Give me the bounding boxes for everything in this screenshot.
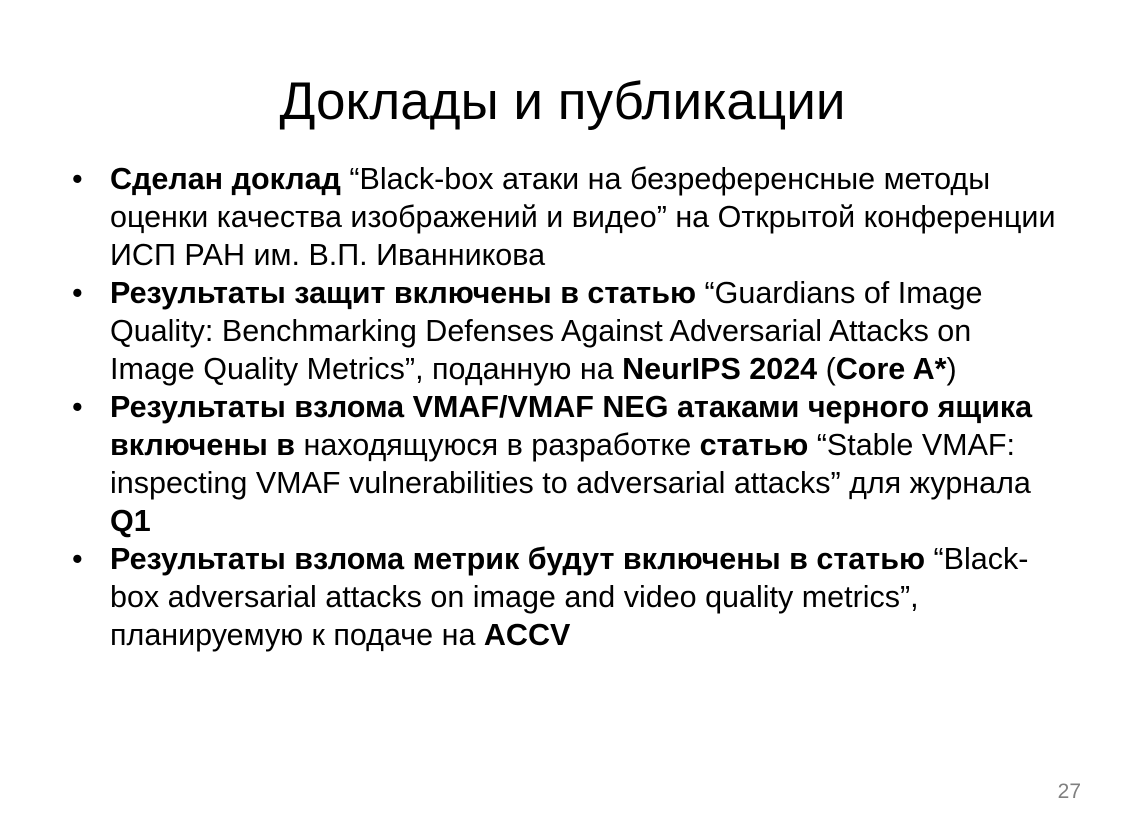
bold-run: ACCV: [484, 618, 570, 652]
regular-run: (: [817, 352, 836, 386]
bold-run: Результаты защит включены в статью: [110, 276, 696, 310]
bullet-point-icon: •: [72, 274, 83, 312]
bold-run: статью: [700, 428, 809, 462]
regular-run: находящуюся в разработке: [295, 428, 700, 462]
list-item: • Результаты взлома метрик будут включен…: [64, 540, 1064, 654]
bold-run: Результаты взлома метрик будут включены …: [110, 542, 925, 576]
bullet-item-text: Сделан доклад “Black-box атаки на безреф…: [110, 160, 1064, 274]
bold-run: NeurIPS 2024: [622, 352, 817, 386]
bullet-item-text: Результаты взлома VMAF/VMAF NEG атаками …: [110, 388, 1064, 540]
bullet-point-icon: •: [72, 160, 83, 198]
bold-run: Сделан доклад: [110, 162, 341, 196]
bold-run: Q1: [110, 504, 151, 538]
page-title: Доклады и публикации: [0, 70, 1125, 134]
list-item: • Результаты защит включены в статью “Gu…: [64, 274, 1064, 388]
list-item: • Сделан доклад “Black-box атаки на безр…: [64, 160, 1064, 274]
slide-canvas: Доклады и публикации • Сделан доклад “Bl…: [0, 0, 1125, 817]
bullet-point-icon: •: [72, 388, 83, 426]
bullet-list: • Сделан доклад “Black-box атаки на безр…: [64, 160, 1064, 654]
regular-run: ): [947, 352, 957, 386]
bold-run: Core A*: [836, 352, 947, 386]
list-item: • Результаты взлома VMAF/VMAF NEG атакам…: [64, 388, 1064, 540]
bullet-item-text: Результаты защит включены в статью “Guar…: [110, 274, 1064, 388]
bullet-item-text: Результаты взлома метрик будут включены …: [110, 540, 1064, 654]
bullet-point-icon: •: [72, 540, 83, 578]
slide-page-number: 27: [1058, 779, 1081, 805]
